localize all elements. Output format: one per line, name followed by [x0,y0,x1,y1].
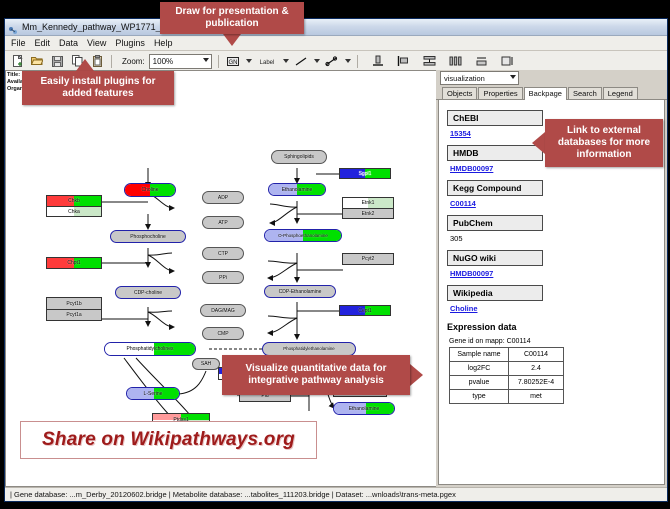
callout-arrow-down-icon [223,34,241,46]
node-pcyt1a[interactable]: Pcyt1a [46,309,102,321]
status-text: | Gene database: ...m_Derby_20120602.bri… [5,490,456,499]
callout-share-on-wikipathways: Share on Wikipathways.org [20,421,317,459]
table-row: pvalue 7.80252E-4 [450,376,564,390]
side-tabs: Objects Properties Backpage Search Legen… [436,86,667,100]
node-cdp-choline[interactable]: CDP-choline [115,286,181,299]
node-label: DAG/MAG [211,308,235,314]
node-cmp[interactable]: CMP [202,327,244,340]
node-sphingolipids[interactable]: Sphingolipids [271,150,327,164]
node-label: Pcyt2 [362,256,375,262]
chevron-down-icon [510,75,516,79]
label-icon[interactable]: Label [256,53,278,69]
save-icon[interactable] [49,53,65,69]
menu-item-data[interactable]: Data [59,38,78,48]
chevron-down-icon[interactable] [283,59,289,63]
callout-arrow-right-icon [410,364,423,386]
screenshot-root: Mm_Kennedy_pathway_WP1771_45176.gpml Fil… [0,0,670,509]
align-left-icon[interactable] [396,53,412,69]
node-label: Ethanolamine [282,187,313,193]
node-ethanolamine-bottom[interactable]: Ethanolamine [333,402,395,415]
node-pcyt2[interactable]: Pcyt2 [342,253,394,265]
new-file-icon[interactable] [9,53,25,69]
cell-value: 2.4 [509,362,564,376]
menu-item-help[interactable]: Help [154,38,173,48]
zoom-label: Zoom: [122,57,145,66]
cell-value: 7.80252E-4 [509,376,564,390]
node-label: CDP-choline [134,290,162,296]
node-etnk2[interactable]: Etnk2 [342,208,394,219]
cell-value: met [509,390,564,404]
node-label: O-Phosphoethanolamine [278,233,328,239]
menu-item-edit[interactable]: Edit [35,38,51,48]
node-label: Chkb [68,198,80,204]
node-label: Choline [142,187,159,193]
pathvisio-icon [8,22,18,32]
node-atp[interactable]: ATP [202,216,244,229]
node-phosphocholine[interactable]: Phosphocholine [110,230,186,243]
cell-key: Sample name [450,348,509,362]
tab-backpage[interactable]: Backpage [524,87,567,100]
cell-key: log2FC [450,362,509,376]
visualization-row: visualization [436,70,667,86]
expression-data-title: Expression data [447,322,664,332]
node-cdp-ethanolamine[interactable]: CDP-Ethanolamine [264,285,336,298]
title-bar: Mm_Kennedy_pathway_WP1771_45176.gpml [5,19,667,36]
node-ctp[interactable]: CTP [202,247,244,260]
cell-value: C00114 [509,348,564,362]
chevron-down-icon[interactable] [314,59,320,63]
node-phosphatidylcholines[interactable]: Phosphatidylcholines [104,342,196,356]
menu-bar: File Edit Data View Plugins Help [5,36,667,51]
section-heading-wikipedia: Wikipedia [447,285,543,301]
node-chka[interactable]: Chka [46,206,102,217]
link-kegg-compound[interactable]: C00114 [450,199,664,208]
section-heading-nugo-wiki: NuGO wiki [447,250,543,266]
link-wikipedia[interactable]: Choline [450,304,664,313]
chevron-down-icon [203,58,209,62]
line-icon[interactable] [293,53,309,69]
datanode-icon[interactable]: GN [225,53,241,69]
visualization-select[interactable]: visualization [440,71,519,85]
node-label: Phosphatidylcholines [127,346,174,352]
tab-objects[interactable]: Objects [442,87,477,99]
node-ppi[interactable]: PPi [202,271,244,284]
node-label: Chpt1 [67,260,80,266]
node-dag-mag[interactable]: DAG/MAG [200,304,246,317]
node-pcyt1b[interactable]: Pcyt1b [46,297,102,309]
stack-vertical-icon[interactable] [422,53,438,69]
node-label: Sphingolipids [284,154,314,160]
node-label: Etnk1 [362,200,375,206]
node-label: Pcyt1a [66,312,81,318]
cell-key: type [450,390,509,404]
common-width-icon[interactable] [474,53,490,69]
tab-search[interactable]: Search [568,87,602,99]
node-sgpl1[interactable]: Sgpl1 [339,168,391,179]
link-nugo-wiki[interactable]: HMDB00097 [450,269,664,278]
value-pubchem: 305 [450,234,664,243]
node-label: CTP [218,251,228,257]
section-heading-pubchem: PubChem [447,215,543,231]
tool-bar: Zoom: 100% GN Label [5,51,667,72]
node-l-serine-left[interactable]: L-Serine [126,387,180,400]
table-row: log2FC 2.4 [450,362,564,376]
node-chkb[interactable]: Chkb [46,195,102,206]
cell-key: pvalue [450,376,509,390]
node-label: Phosphocholine [130,234,166,240]
toolbar-separator [218,55,219,68]
node-label: Chka [68,209,80,215]
node-chpt1[interactable]: Chpt1 [46,257,102,269]
node-phosphatidylethanolamine[interactable]: Phosphatidylethanolamine [262,342,356,356]
node-label: ATP [218,220,227,226]
section-heading-hmdb: HMDB [447,145,543,161]
expression-table: Sample name C00114 log2FC 2.4 pvalue 7.8… [449,347,564,404]
node-cept1[interactable]: Cept1 [339,305,391,316]
node-choline-top[interactable]: Choline [124,183,176,197]
callout-easily-install-plugins: Easily install plugins for added feature… [22,71,174,105]
node-label: Etnk2 [362,211,375,217]
callout-link-to-external-databases: Link to external databases for more info… [545,119,663,167]
share-text: Share on Wikipathways.org [42,429,295,451]
node-label: Sgpl1 [359,171,372,177]
tab-properties[interactable]: Properties [478,87,522,99]
align-bottom-icon[interactable] [370,53,386,69]
zoom-select[interactable]: 100% [149,54,212,69]
node-label: CMP [217,331,228,337]
gene-id-on-mapp: Gene id on mapp: C00114 [449,338,664,345]
callout-visualize-quantitative-data: Visualize quantitative data for integrat… [222,355,410,395]
menu-item-view[interactable]: View [87,38,106,48]
chevron-down-icon[interactable] [345,59,351,63]
menu-item-file[interactable]: File [11,38,26,48]
table-row: Sample name C00114 [450,348,564,362]
node-etnk1[interactable]: Etnk1 [342,197,394,208]
zoom-value: 100% [153,57,173,66]
callout-arrow-up-icon [76,59,94,71]
menu-item-plugins[interactable]: Plugins [115,38,145,48]
receptor-line-icon[interactable] [324,53,340,69]
toolbar-separator [357,55,358,68]
svg-text:GN: GN [228,60,237,66]
node-adp[interactable]: ADP [202,191,244,204]
node-label: L-Serine [144,391,163,397]
node-label: Pcyt1b [66,301,81,307]
callout-draw-for-presentation: Draw for presentation & publication [160,2,304,34]
section-heading-kegg-compound: Kegg Compound [447,180,543,196]
table-row: type met [450,390,564,404]
chevron-down-icon[interactable] [246,59,252,63]
node-ethanolamine-top[interactable]: Ethanolamine [268,183,326,196]
visualization-value: visualization [444,74,485,83]
node-label: Cept1 [358,308,371,314]
node-label: PPi [219,275,227,281]
status-bar: | Gene database: ...m_Derby_20120602.bri… [5,487,667,501]
distribute-icon[interactable] [448,53,464,69]
section-heading-chebi: ChEBI [447,110,543,126]
node-label: ADP [218,195,228,201]
node-o-phosphoethanolamine[interactable]: O-Phosphoethanolamine [264,229,342,242]
node-label: CDP-Ethanolamine [279,289,322,295]
callout-arrow-left-icon [532,132,545,154]
svg-text:Label: Label [259,60,274,66]
open-folder-icon[interactable] [29,53,45,69]
node-label: Phosphatidylethanolamine [283,346,335,352]
common-height-icon[interactable] [500,53,516,69]
toolbar-separator [111,55,112,68]
node-label: Ethanolamine [349,406,380,412]
tab-legend[interactable]: Legend [603,87,638,99]
